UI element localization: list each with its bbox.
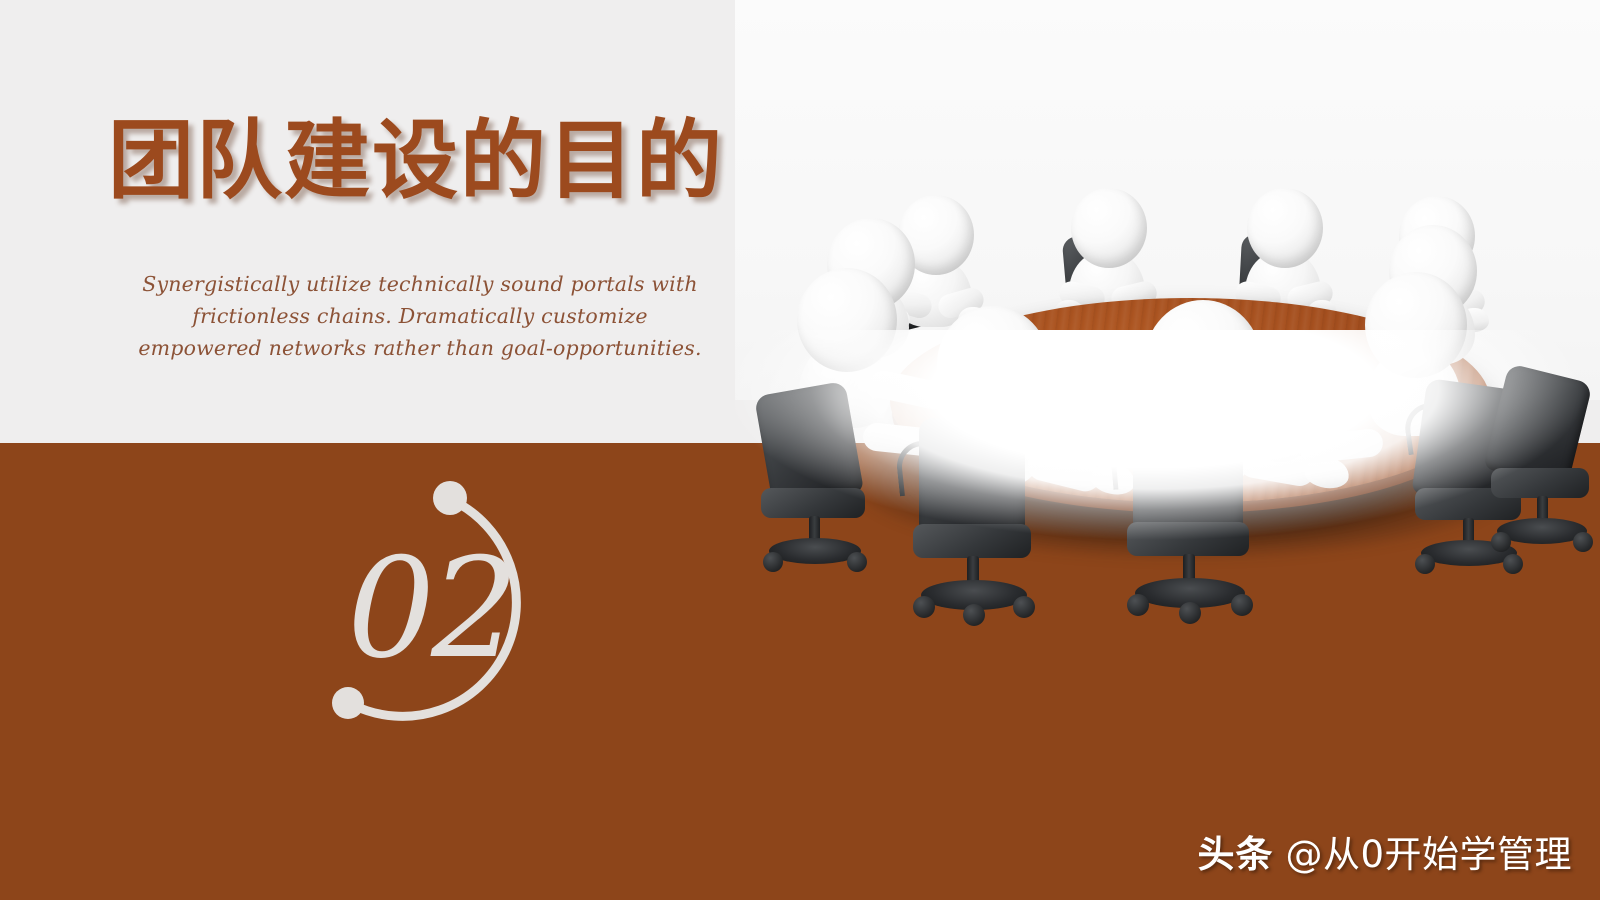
watermark-handle: @从0开始学管理 [1285,824,1572,878]
arc-start-dot-icon [433,481,467,515]
watermark: 头条 @从0开始学管理 [1197,824,1572,878]
meeting-illustration [735,0,1600,640]
arc-end-dot-icon [332,687,364,719]
section-number-badge: 02 [300,448,610,748]
presentation-slide: 团队建设的目的 Synergistically utilize technica… [0,0,1600,900]
section-number: 02 [300,540,562,678]
page-title: 团队建设的目的 [108,118,724,206]
meeting-illustration-canvas [735,0,1600,640]
title-block: 团队建设的目的 Synergistically utilize technica… [0,0,760,443]
watermark-brand: 头条 [1197,824,1273,878]
page-subtitle: Synergistically utilize technically soun… [130,268,710,364]
